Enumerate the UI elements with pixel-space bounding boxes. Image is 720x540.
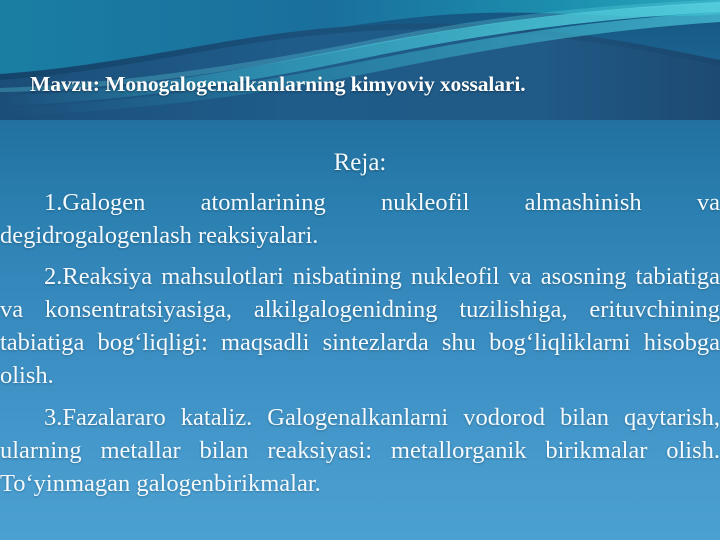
plan-item-list: 1.Galogen atomlarining nukleofil almashi…: [0, 186, 720, 500]
plan-item: 3.Fazalararo kataliz. Galogenalkanlarni …: [0, 401, 720, 500]
plan-item: 1.Galogen atomlarining nukleofil almashi…: [0, 186, 720, 252]
presentation-slide: Mavzu: Monogalogenalkanlarning kimyoviy …: [0, 0, 720, 540]
slide-title: Mavzu: Monogalogenalkanlarning kimyoviy …: [0, 72, 720, 97]
slide-content: Mavzu: Monogalogenalkanlarning kimyoviy …: [0, 0, 720, 540]
plan-item: 2.Reaksiya mahsulotlari nisbatining nukl…: [0, 260, 720, 392]
plan-heading: Reja:: [0, 149, 720, 177]
